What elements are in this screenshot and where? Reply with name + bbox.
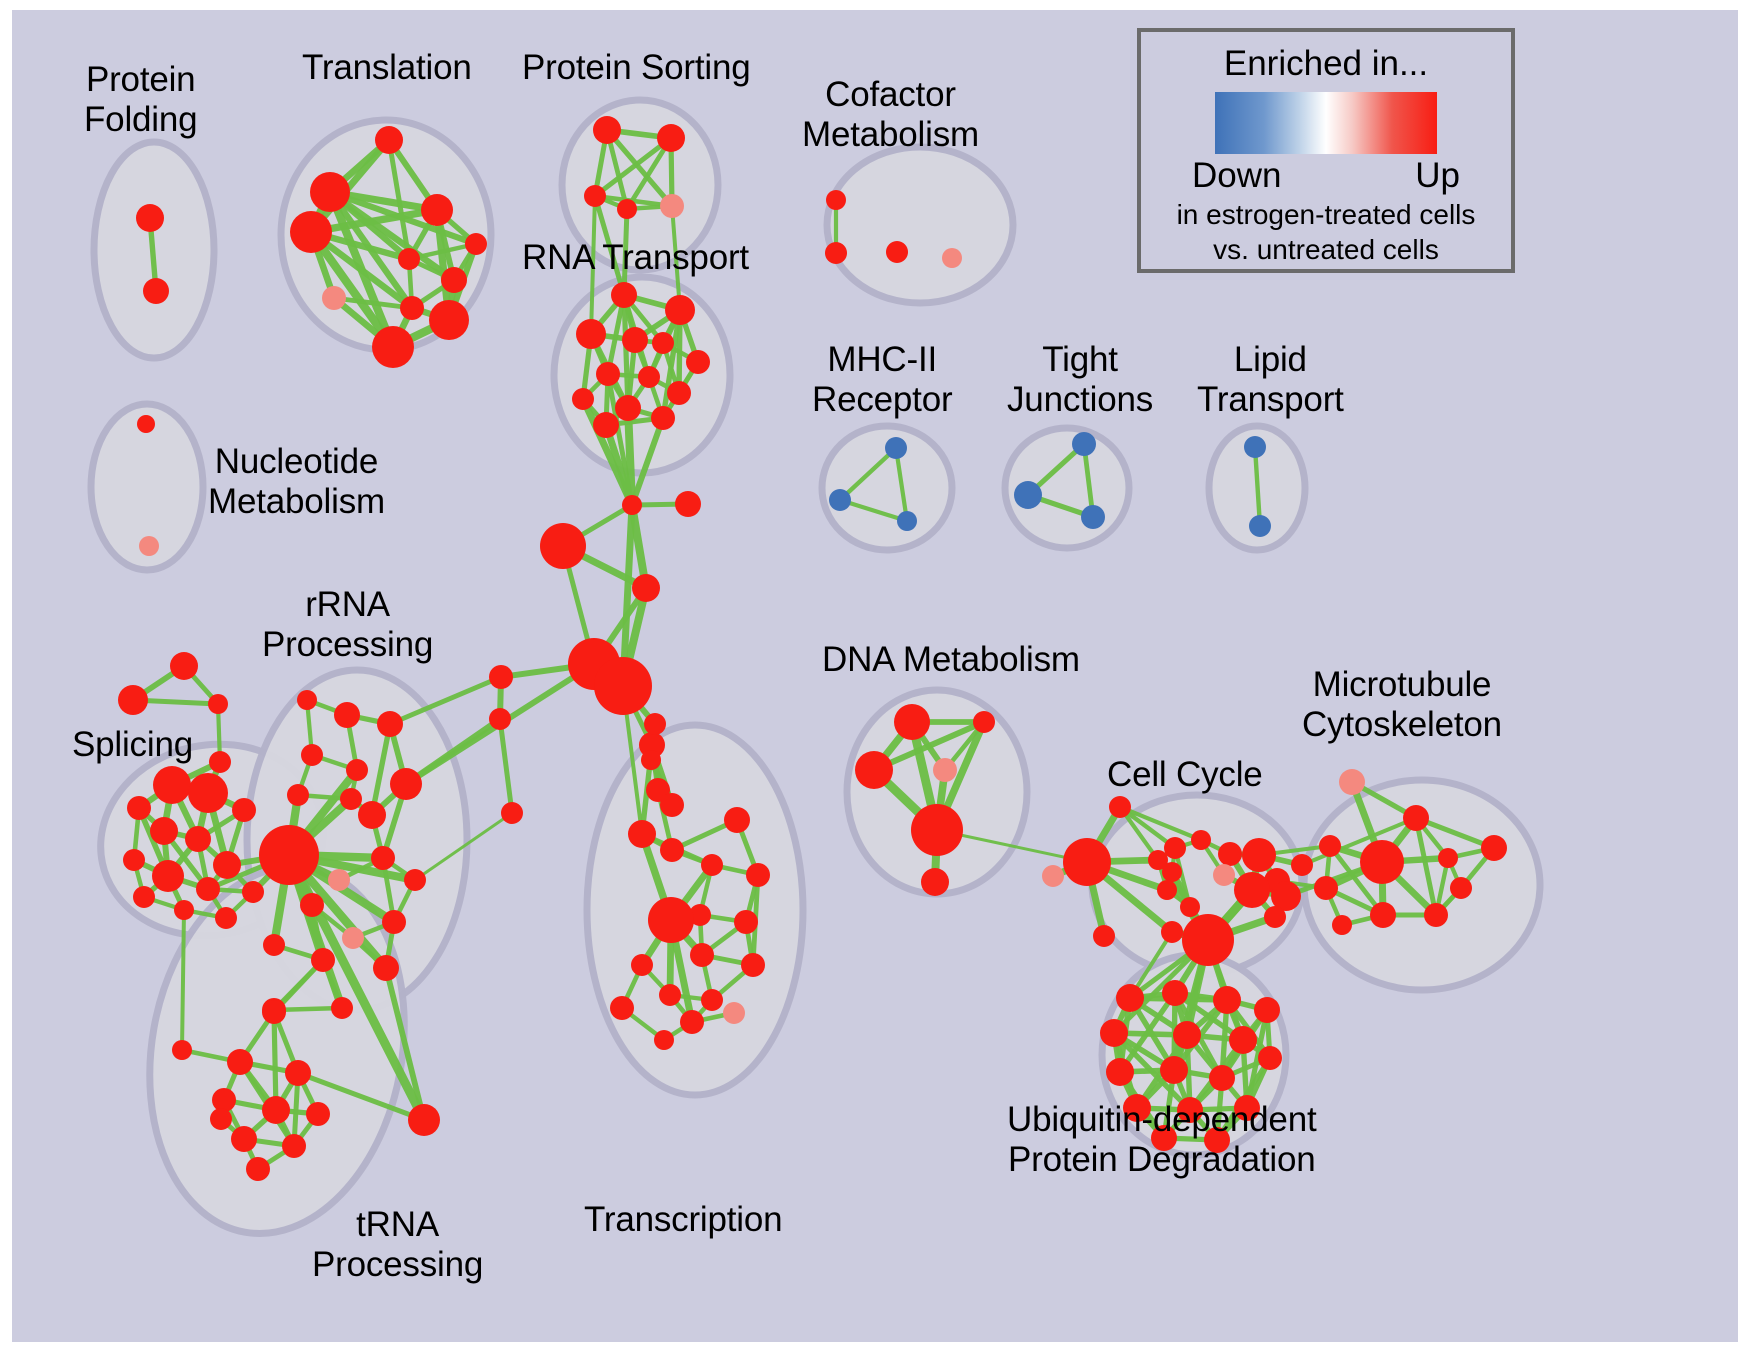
network-node[interactable] xyxy=(227,1049,253,1075)
cluster-label: Tight Junctions xyxy=(1007,340,1153,420)
network-node[interactable] xyxy=(1229,1026,1257,1054)
network-node[interactable] xyxy=(973,711,995,733)
color-gradient-bar xyxy=(1215,92,1437,154)
cluster-hull xyxy=(827,147,1013,303)
network-node[interactable] xyxy=(1160,1056,1188,1084)
network-node[interactable] xyxy=(231,1126,257,1152)
network-node[interactable] xyxy=(701,989,723,1011)
network-node[interactable] xyxy=(300,893,324,917)
network-node[interactable] xyxy=(651,406,675,430)
network-node[interactable] xyxy=(1249,515,1271,537)
network-node[interactable] xyxy=(215,907,237,929)
network-node[interactable] xyxy=(465,233,487,255)
network-node[interactable] xyxy=(1218,842,1242,866)
network-node[interactable] xyxy=(136,204,164,232)
network-node[interactable] xyxy=(174,900,194,920)
legend-box: Enriched in... Down Up in estrogen-treat… xyxy=(1137,28,1515,273)
network-node[interactable] xyxy=(1081,505,1105,529)
legend-caption-line1: in estrogen-treated cells xyxy=(1177,198,1476,231)
network-node[interactable] xyxy=(610,996,634,1020)
network-node[interactable] xyxy=(133,886,155,908)
network-node[interactable] xyxy=(942,248,962,268)
network-node[interactable] xyxy=(346,759,368,781)
network-node[interactable] xyxy=(208,694,228,714)
network-node[interactable] xyxy=(1180,897,1200,917)
network-node[interactable] xyxy=(628,820,656,848)
cluster-label: Translation xyxy=(302,48,472,88)
network-node[interactable] xyxy=(1339,769,1365,795)
network-node[interactable] xyxy=(734,910,758,934)
network-node[interactable] xyxy=(301,744,323,766)
cluster-label: tRNA Processing xyxy=(312,1205,483,1285)
edge-bridge xyxy=(182,910,184,1050)
network-node[interactable] xyxy=(150,817,178,845)
network-node[interactable] xyxy=(340,788,362,810)
network-node[interactable] xyxy=(1481,835,1507,861)
network-node[interactable] xyxy=(701,854,723,876)
network-node[interactable] xyxy=(632,574,660,602)
network-node[interactable] xyxy=(576,319,606,349)
network-node[interactable] xyxy=(886,241,908,263)
network-node[interactable] xyxy=(1254,997,1280,1023)
edge-bridge xyxy=(500,719,512,813)
network-node[interactable] xyxy=(196,877,220,901)
network-node[interactable] xyxy=(143,278,169,304)
network-node[interactable] xyxy=(242,881,264,903)
network-node[interactable] xyxy=(1191,830,1211,850)
network-node[interactable] xyxy=(641,750,661,770)
network-node[interactable] xyxy=(675,491,701,517)
network-node[interactable] xyxy=(398,248,420,270)
network-node[interactable] xyxy=(1162,980,1188,1006)
network-node[interactable] xyxy=(282,1134,306,1158)
network-node[interactable] xyxy=(489,665,513,689)
cluster-label: MHC-II Receptor xyxy=(812,340,952,420)
cluster-label: Ubiquitin-dependent Protein Degradation xyxy=(1007,1100,1317,1180)
cluster-label: Lipid Transport xyxy=(1197,340,1344,420)
network-node[interactable] xyxy=(680,1010,704,1034)
network-node[interactable] xyxy=(1258,1046,1282,1070)
network-node[interactable] xyxy=(654,1030,674,1050)
network-node[interactable] xyxy=(331,997,353,1019)
legend-up-label: Up xyxy=(1415,156,1460,196)
legend-down-label: Down xyxy=(1192,156,1281,196)
network-node[interactable] xyxy=(1424,903,1448,927)
network-node[interactable] xyxy=(382,910,406,934)
network-node[interactable] xyxy=(540,523,586,569)
network-node[interactable] xyxy=(1157,880,1177,900)
network-node[interactable] xyxy=(322,286,346,310)
cluster-label: rRNA Processing xyxy=(262,585,433,665)
network-node[interactable] xyxy=(921,868,949,896)
network-node[interactable] xyxy=(1209,1065,1235,1091)
cluster-label: Microtubule Cytoskeleton xyxy=(1302,665,1502,745)
network-node[interactable] xyxy=(1162,862,1182,882)
network-node[interactable] xyxy=(139,536,159,556)
cluster-label: Protein Sorting xyxy=(522,48,751,88)
legend-caption-line2: vs. untreated cells xyxy=(1213,233,1439,266)
network-node[interactable] xyxy=(1403,805,1429,831)
network-node[interactable] xyxy=(1106,1058,1134,1086)
legend-title: Enriched in... xyxy=(1224,44,1428,84)
network-node[interactable] xyxy=(501,802,523,824)
cluster-label: DNA Metabolism xyxy=(822,640,1080,680)
network-node[interactable] xyxy=(210,1108,232,1130)
network-node[interactable] xyxy=(263,934,285,956)
network-node[interactable] xyxy=(660,838,684,862)
network-node[interactable] xyxy=(911,804,963,856)
network-node[interactable] xyxy=(829,489,851,511)
network-node[interactable] xyxy=(1072,432,1096,456)
network-node[interactable] xyxy=(259,825,319,885)
network-node[interactable] xyxy=(246,1157,270,1181)
cluster-label: Cell Cycle xyxy=(1107,755,1263,795)
cluster-label: Transcription xyxy=(584,1200,782,1240)
network-node[interactable] xyxy=(1213,986,1241,1014)
network-node[interactable] xyxy=(373,955,399,981)
network-node[interactable] xyxy=(1116,984,1144,1012)
network-node[interactable] xyxy=(358,801,386,829)
network-node[interactable] xyxy=(232,798,256,822)
network-node[interactable] xyxy=(652,332,674,354)
network-node[interactable] xyxy=(660,793,684,817)
network-node[interactable] xyxy=(593,412,619,438)
network-node[interactable] xyxy=(596,362,620,386)
network-node[interactable] xyxy=(648,897,694,943)
network-node[interactable] xyxy=(638,366,660,388)
network-node[interactable] xyxy=(328,869,350,891)
network-node[interactable] xyxy=(885,437,907,459)
network-node[interactable] xyxy=(137,415,155,433)
network-node[interactable] xyxy=(1360,840,1404,884)
network-node[interactable] xyxy=(1242,838,1276,872)
network-node[interactable] xyxy=(152,860,184,892)
network-node[interactable] xyxy=(1109,796,1131,818)
network-node[interactable] xyxy=(372,326,414,368)
cluster-label: Nucleotide Metabolism xyxy=(208,442,385,522)
network-node[interactable] xyxy=(593,116,621,144)
network-node[interactable] xyxy=(825,242,847,264)
network-node[interactable] xyxy=(170,652,198,680)
network-node[interactable] xyxy=(1014,481,1042,509)
network-node[interactable] xyxy=(622,327,648,353)
network-node[interactable] xyxy=(660,194,684,218)
network-node[interactable] xyxy=(594,657,652,715)
network-node[interactable] xyxy=(1319,835,1341,857)
network-node[interactable] xyxy=(584,185,606,207)
network-node[interactable] xyxy=(212,1088,236,1112)
network-node[interactable] xyxy=(1234,872,1270,908)
network-node[interactable] xyxy=(741,953,765,977)
network-node[interactable] xyxy=(746,863,770,887)
network-node[interactable] xyxy=(404,869,426,891)
network-node[interactable] xyxy=(933,758,957,782)
network-node[interactable] xyxy=(826,190,846,210)
network-node[interactable] xyxy=(1264,906,1286,928)
network-node[interactable] xyxy=(894,704,930,740)
network-node[interactable] xyxy=(1164,837,1186,859)
network-node[interactable] xyxy=(297,690,317,710)
network-node[interactable] xyxy=(1332,915,1352,935)
network-node[interactable] xyxy=(262,1000,286,1024)
network-node[interactable] xyxy=(342,927,364,949)
network-node[interactable] xyxy=(644,713,666,735)
network-node[interactable] xyxy=(1370,902,1396,928)
network-node[interactable] xyxy=(213,851,241,879)
legend-endpoint-row: Down Up xyxy=(1192,156,1460,196)
network-node[interactable] xyxy=(311,948,335,972)
network-node[interactable] xyxy=(421,194,453,226)
network-node[interactable] xyxy=(615,395,641,421)
network-node[interactable] xyxy=(375,126,403,154)
network-node[interactable] xyxy=(118,685,148,715)
network-node[interactable] xyxy=(209,751,231,773)
network-node[interactable] xyxy=(631,954,653,976)
network-node[interactable] xyxy=(855,751,893,789)
network-node[interactable] xyxy=(686,350,710,374)
network-node[interactable] xyxy=(572,388,594,410)
network-node[interactable] xyxy=(306,1102,330,1126)
network-node[interactable] xyxy=(723,1002,745,1024)
network-node[interactable] xyxy=(1093,925,1115,947)
network-node[interactable] xyxy=(617,199,637,219)
network-node[interactable] xyxy=(127,796,151,820)
network-node[interactable] xyxy=(657,124,685,152)
network-node[interactable] xyxy=(262,1096,290,1124)
network-node[interactable] xyxy=(659,984,681,1006)
network-node[interactable] xyxy=(400,296,424,320)
figure-root: Protein FoldingTranslationProtein Sortin… xyxy=(0,0,1750,1360)
network-node[interactable] xyxy=(334,702,360,728)
network-node[interactable] xyxy=(1244,436,1266,458)
network-node[interactable] xyxy=(290,211,332,253)
network-node[interactable] xyxy=(377,711,403,737)
network-node[interactable] xyxy=(1438,848,1458,868)
network-node[interactable] xyxy=(188,773,228,813)
network-node[interactable] xyxy=(1291,854,1313,876)
network-node[interactable] xyxy=(310,172,350,212)
network-node[interactable] xyxy=(1100,1019,1128,1047)
network-node[interactable] xyxy=(724,807,750,833)
network-canvas: Protein FoldingTranslationProtein Sortin… xyxy=(12,10,1738,1342)
network-node[interactable] xyxy=(489,708,511,730)
network-node[interactable] xyxy=(185,826,211,852)
network-node[interactable] xyxy=(172,1040,192,1060)
network-node[interactable] xyxy=(1450,877,1472,899)
network-node[interactable] xyxy=(441,267,467,293)
network-node[interactable] xyxy=(408,1104,440,1136)
network-node[interactable] xyxy=(622,495,642,515)
network-node[interactable] xyxy=(371,846,395,870)
cluster-label: Splicing xyxy=(72,725,193,765)
edge xyxy=(274,1012,276,1110)
network-node[interactable] xyxy=(1182,914,1234,966)
network-node[interactable] xyxy=(1161,921,1183,943)
network-node[interactable] xyxy=(1042,865,1064,887)
network-node[interactable] xyxy=(690,943,714,967)
network-node[interactable] xyxy=(1173,1021,1201,1049)
cluster-label: Cofactor Metabolism xyxy=(802,75,979,155)
network-node[interactable] xyxy=(1063,838,1111,886)
network-node[interactable] xyxy=(667,381,691,405)
network-node[interactable] xyxy=(285,1060,311,1086)
network-node[interactable] xyxy=(1213,864,1235,886)
network-node[interactable] xyxy=(287,784,309,806)
network-node[interactable] xyxy=(123,849,145,871)
cluster-label: Protein Folding xyxy=(84,60,197,140)
network-node[interactable] xyxy=(897,511,917,531)
network-node[interactable] xyxy=(611,282,637,308)
network-node[interactable] xyxy=(390,768,422,800)
network-node[interactable] xyxy=(429,300,469,340)
network-node[interactable] xyxy=(153,766,191,804)
cluster-label: RNA Transport xyxy=(522,238,749,278)
network-node[interactable] xyxy=(1314,876,1338,900)
network-node[interactable] xyxy=(665,295,695,325)
